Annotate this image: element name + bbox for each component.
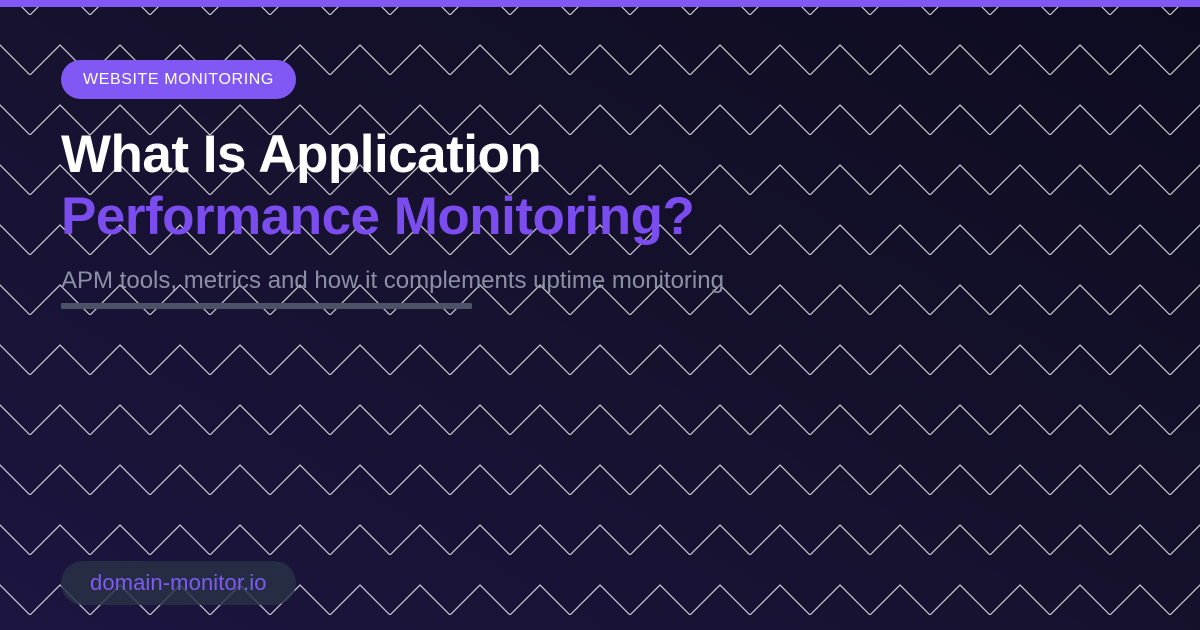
site-domain-label: domain-monitor.io	[90, 570, 267, 596]
site-domain-pill: domain-monitor.io	[61, 561, 296, 605]
title-divider-rule	[61, 303, 472, 309]
headline-line-primary: What Is Application	[61, 124, 1061, 186]
category-badge: WEBSITE MONITORING	[61, 60, 296, 99]
page-title: What Is Application Performance Monitori…	[61, 124, 1061, 248]
headline-line-accent: Performance Monitoring?	[61, 186, 1061, 248]
category-badge-label: WEBSITE MONITORING	[83, 71, 274, 89]
page-subtitle: APM tools, metrics and how it complement…	[61, 265, 724, 297]
top-accent-bar	[0, 0, 1200, 7]
card-content: WEBSITE MONITORING What Is Application P…	[0, 0, 1200, 630]
social-share-card: WEBSITE MONITORING What Is Application P…	[0, 0, 1200, 630]
